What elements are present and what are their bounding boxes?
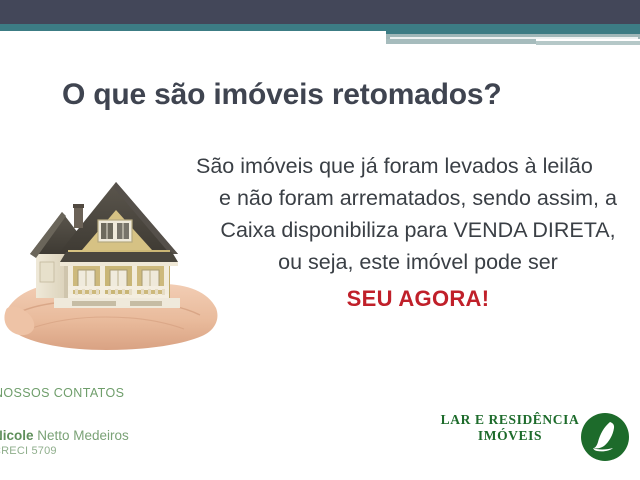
header-teal-band-right	[386, 24, 640, 34]
brand-line-1: LAR E RESIDÊNCIA	[441, 412, 580, 427]
contacts-heading: NOSSOS CONTATOS	[0, 386, 124, 400]
agent-first-name: Nicole	[0, 428, 34, 443]
hand-holding-house-photo	[2, 158, 220, 350]
body-line-2: e não foram arrematados, sendo assim, a	[196, 182, 640, 214]
agent-last-name: Netto Medeiros	[34, 428, 129, 443]
lar-e-residencia-leaf-logo	[580, 412, 630, 462]
slide-canvas: O que são imóveis retomados?	[0, 0, 640, 480]
header-light-teal-band-3	[536, 41, 640, 45]
slide-title: O que são imóveis retomados?	[62, 78, 502, 112]
body-line-1: São imóveis que já foram levados à leilã…	[196, 150, 640, 182]
brand-name: LAR E RESIDÊNCIA IMÓVEIS	[437, 412, 583, 444]
header-light-teal-band-2	[386, 39, 536, 44]
call-to-action-text: SEU AGORA!	[196, 283, 640, 315]
header-teal-band-left	[0, 24, 386, 31]
body-line-3: Caixa disponibiliza para VENDA DIRETA,	[196, 214, 640, 246]
header-navy-band	[0, 0, 640, 24]
body-paragraph: São imóveis que já foram levados à leilã…	[196, 150, 640, 315]
brand-line-2: IMÓVEIS	[437, 428, 583, 444]
agent-name: Nicole Netto Medeiros	[0, 428, 129, 443]
house-model	[30, 182, 180, 308]
body-line-4: ou seja, este imóvel pode ser	[196, 246, 640, 278]
agent-license: CRECI 5709	[0, 445, 57, 457]
